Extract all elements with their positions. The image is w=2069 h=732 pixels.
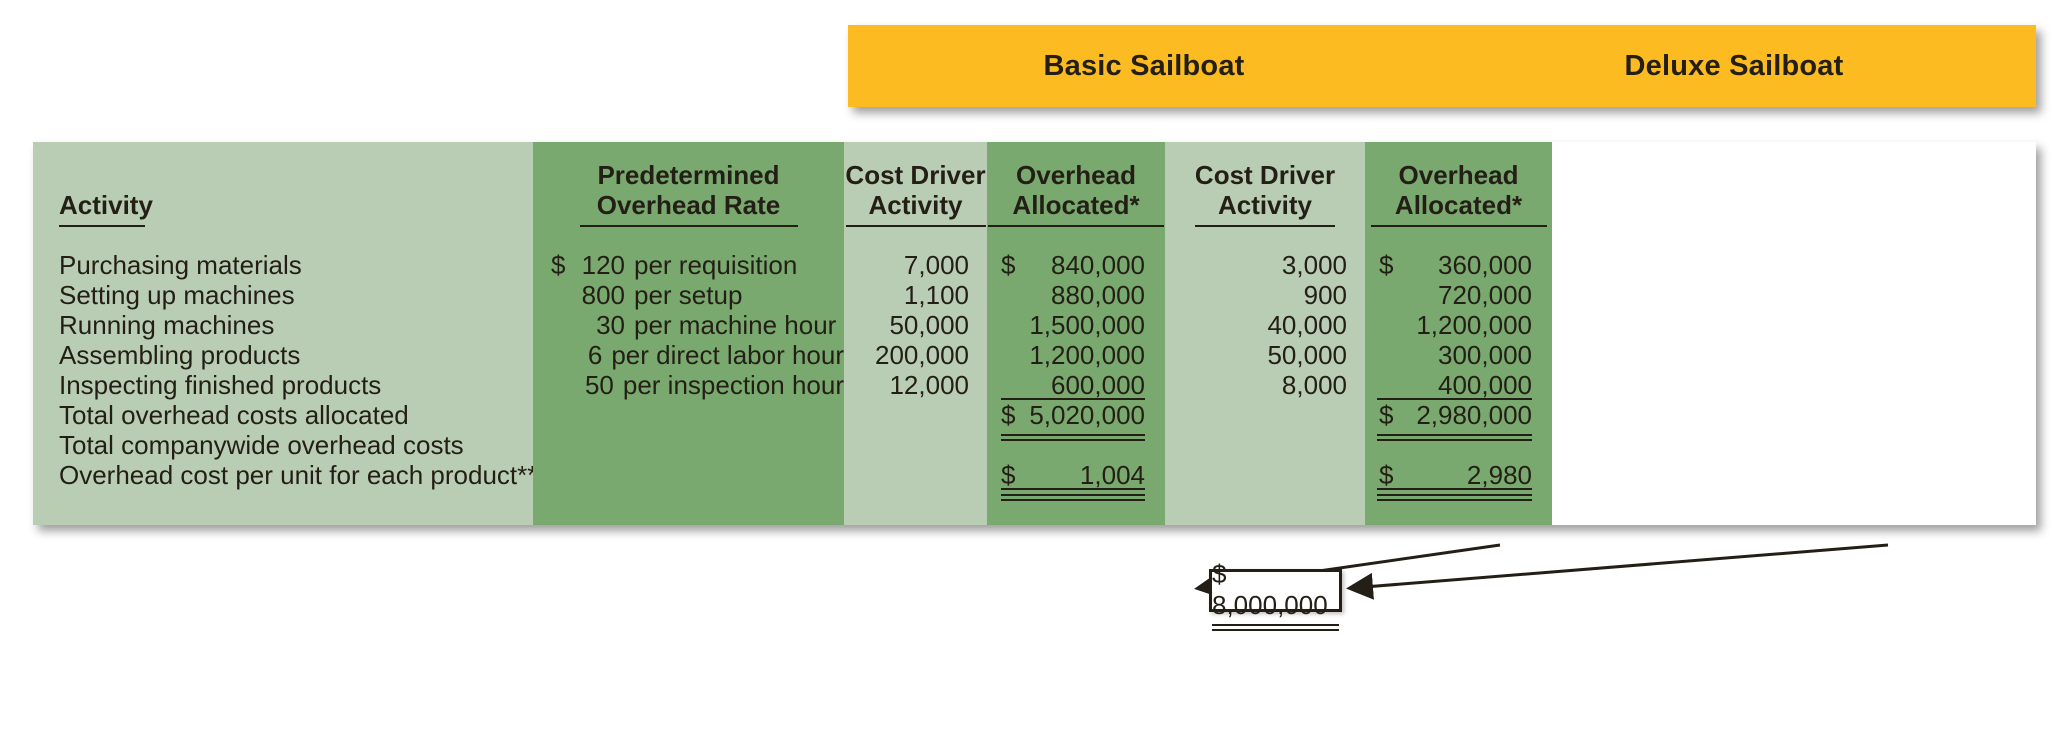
amount: 1,200,000 — [1015, 340, 1145, 370]
table-row: 1,500,000 — [987, 310, 1165, 340]
table-row: Running machines — [33, 310, 533, 340]
column-cost-driver-activity-deluxe: Cost Driver Activity 3,000 900 40,000 50… — [1165, 142, 1365, 525]
companywide-total-box: $ 8,000,000 — [1209, 569, 1342, 612]
product-header-basic: Basic Sailboat — [904, 50, 1384, 83]
header-rule — [1195, 225, 1335, 227]
table-row-total-deluxe: $ 2,980,000 — [1365, 400, 1552, 430]
column-header-cost-driver-basic: Cost Driver Activity — [844, 160, 987, 227]
table-row: 880,000 — [987, 280, 1165, 310]
table-row: 40,000 — [1165, 310, 1365, 340]
currency-symbol: $ — [1379, 400, 1393, 430]
table-row: 720,000 — [1365, 280, 1552, 310]
table-row: 400,000 — [1365, 370, 1552, 400]
product-banner: Basic Sailboat Deluxe Sailboat — [848, 25, 2036, 107]
per-unit-rule — [1001, 488, 1145, 490]
per-unit-rule — [1377, 488, 1532, 490]
activity-based-costing-table: Activity Purchasing materials Setting up… — [33, 142, 2036, 525]
overhead-deluxe-rows: $ 360,000 720,000 1,200,000 300,000 — [1365, 250, 1552, 490]
column-header-line1: Cost Driver — [1165, 160, 1365, 190]
column-header-line1: Overhead — [987, 160, 1165, 190]
subtotal-rule — [1377, 398, 1532, 400]
column-header-overhead-deluxe: Overhead Allocated* — [1365, 160, 1552, 227]
column-header-line2: Activity — [844, 190, 987, 220]
total-double-rule — [1001, 434, 1145, 436]
total-amount: 5,020,000 — [1015, 400, 1145, 430]
table-row: 6 per direct labor hour — [533, 340, 844, 370]
table-row: 300,000 — [1365, 340, 1552, 370]
per-unit-amount: 2,980 — [1393, 460, 1532, 490]
table-row: 12,000 — [844, 370, 987, 400]
cost-driver-deluxe-rows: 3,000 900 40,000 50,000 8,000 — [1165, 250, 1365, 400]
currency-symbol: $ — [1379, 250, 1393, 280]
amount: 1,500,000 — [1015, 310, 1145, 340]
column-header-line1: Cost Driver — [844, 160, 987, 190]
rate-amount: 120 — [567, 250, 634, 280]
amount: 400,000 — [1393, 370, 1532, 400]
table-row: 30 per machine hour — [533, 310, 844, 340]
rate-rows: $ 120 per requisition 800 per setup 30 p… — [533, 250, 844, 400]
table-row: 1,200,000 — [987, 340, 1165, 370]
companywide-total-value: $ 8,000,000 — [1212, 559, 1339, 623]
column-header-rate-line2: Overhead Rate — [533, 190, 844, 220]
rate-amount: 800 — [567, 280, 634, 310]
column-predetermined-overhead-rate: Predetermined Overhead Rate $ 120 per re… — [533, 142, 844, 525]
table-row: Inspecting finished products — [33, 370, 533, 400]
table-row: $ 120 per requisition — [533, 250, 844, 280]
currency-symbol: $ — [1379, 460, 1393, 490]
table-row-total-basic: $ 5,020,000 — [987, 400, 1165, 430]
table-row: 200,000 — [844, 340, 987, 370]
column-header-line1: Overhead — [1365, 160, 1552, 190]
column-header-activity: Activity — [59, 190, 153, 227]
table-row: 3,000 — [1165, 250, 1365, 280]
currency-symbol: $ — [1001, 400, 1015, 430]
column-header-line2: Activity — [1165, 190, 1365, 220]
cost-driver-basic-rows: 7,000 1,100 50,000 200,000 12,000 — [844, 250, 987, 400]
amount: 720,000 — [1393, 280, 1532, 310]
column-header-line2: Allocated* — [1365, 190, 1552, 220]
table-row-per-unit-deluxe: $ 2,980 — [1365, 460, 1552, 490]
table-row: 900 — [1165, 280, 1365, 310]
per-unit-double-rule — [1001, 494, 1145, 496]
table-row-per-unit-basic: $ 1,004 — [987, 460, 1165, 490]
table-row: Assembling products — [33, 340, 533, 370]
rate-unit: per setup — [634, 280, 742, 310]
arrow-from-deluxe-total — [1352, 545, 1888, 588]
currency-symbol: $ — [551, 250, 567, 280]
currency-symbol: $ — [1001, 460, 1015, 490]
table-row-companywide: Total companywide overhead costs — [33, 430, 533, 460]
table-row: $ 360,000 — [1365, 250, 1552, 280]
rate-amount: 30 — [567, 310, 634, 340]
header-rule — [846, 225, 986, 227]
column-header-rate-line1: Predetermined — [533, 160, 844, 190]
table-row-per-unit: Overhead cost per unit for each product*… — [33, 460, 533, 490]
header-rule — [59, 225, 145, 227]
activity-rows: Purchasing materials Setting up machines… — [33, 250, 533, 490]
table-row: Setting up machines — [33, 280, 533, 310]
column-cost-driver-activity-basic: Cost Driver Activity 7,000 1,100 50,000 … — [844, 142, 987, 525]
column-overhead-allocated-basic: Overhead Allocated* $ 840,000 880,000 1,… — [987, 142, 1165, 525]
total-amount: 2,980,000 — [1393, 400, 1532, 430]
table-row: Purchasing materials — [33, 250, 533, 280]
header-rule — [1371, 225, 1547, 227]
rate-unit: per inspection hour — [623, 370, 844, 400]
table-row: 7,000 — [844, 250, 987, 280]
overhead-basic-rows: $ 840,000 880,000 1,500,000 1,200,000 — [987, 250, 1165, 490]
rate-amount: 50 — [565, 370, 623, 400]
rate-unit: per requisition — [634, 250, 797, 280]
amount: 300,000 — [1393, 340, 1532, 370]
per-unit-amount: 1,004 — [1015, 460, 1145, 490]
table-row: 1,100 — [844, 280, 987, 310]
column-overhead-allocated-deluxe: Overhead Allocated* $ 360,000 720,000 1,… — [1365, 142, 1552, 525]
amount: 600,000 — [1015, 370, 1145, 400]
table-row: 8,000 — [1165, 370, 1365, 400]
table-row: $ 840,000 — [987, 250, 1165, 280]
table-row-total-allocated: Total overhead costs allocated — [33, 400, 533, 430]
total-double-rule — [1377, 434, 1532, 436]
currency-symbol: $ — [1001, 250, 1015, 280]
header-rule — [580, 225, 798, 227]
table-row: 50,000 — [1165, 340, 1365, 370]
table-row: 50,000 — [844, 310, 987, 340]
header-rule — [988, 225, 1164, 227]
table-row: 1,200,000 — [1365, 310, 1552, 340]
amount: 360,000 — [1393, 250, 1532, 280]
table-row: 50 per inspection hour — [533, 370, 844, 400]
column-header-activity-label: Activity — [59, 190, 153, 220]
column-header-cost-driver-deluxe: Cost Driver Activity — [1165, 160, 1365, 227]
amount: 880,000 — [1015, 280, 1145, 310]
column-header-line2: Allocated* — [987, 190, 1165, 220]
product-header-deluxe: Deluxe Sailboat — [1494, 50, 1974, 83]
column-header-overhead-basic: Overhead Allocated* — [987, 160, 1165, 227]
table-row: 600,000 — [987, 370, 1165, 400]
amount: 1,200,000 — [1393, 310, 1532, 340]
table-row: 800 per setup — [533, 280, 844, 310]
amount: 840,000 — [1015, 250, 1145, 280]
rate-unit: per direct labor hour — [611, 340, 844, 370]
column-activity: Activity Purchasing materials Setting up… — [33, 142, 533, 525]
per-unit-double-rule — [1377, 494, 1532, 496]
figure-canvas: Basic Sailboat Deluxe Sailboat Activity … — [0, 0, 2069, 732]
subtotal-rule — [1001, 398, 1145, 400]
rate-unit: per machine hour — [634, 310, 836, 340]
rate-amount: 6 — [562, 340, 611, 370]
column-header-rate: Predetermined Overhead Rate — [533, 160, 844, 227]
